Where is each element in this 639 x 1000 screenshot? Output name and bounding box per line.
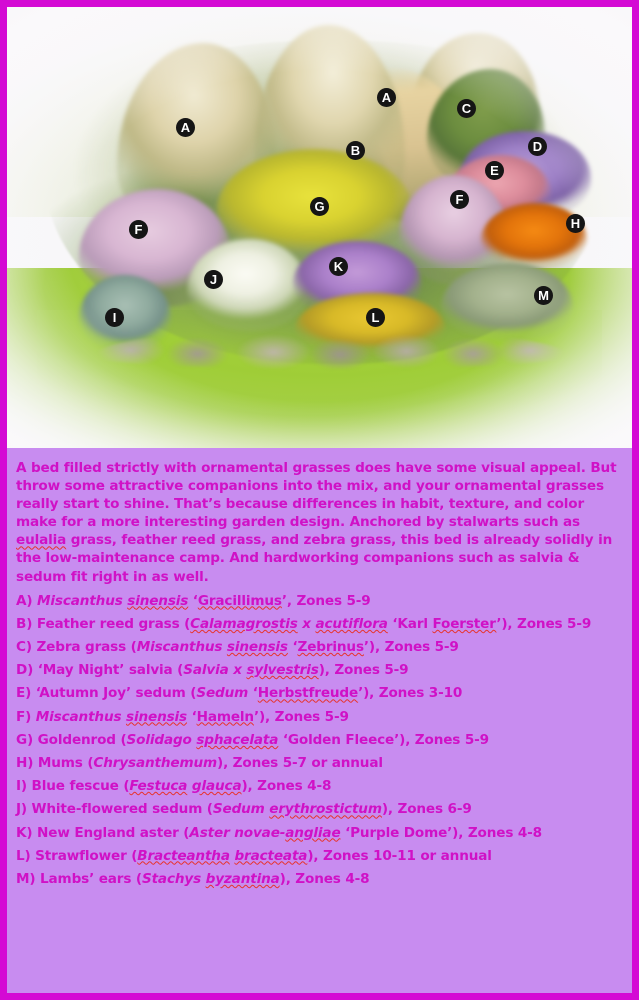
text-run: L) Strawflower ( [16,848,137,864]
text-run: ’), Zones 5-9 [254,709,349,725]
botanical-name-flagged: sinensis [126,709,187,725]
plant-legend-item-d: D) ‘May Night’ salvia (Salvia x sylvestr… [16,661,624,680]
botanical-name: Miscanthus [37,593,127,609]
text-run: ’, Zones 5-9 [282,593,371,609]
botanical-name: x [298,616,316,632]
text-run: J) White-flowered sedum ( [16,801,213,817]
plant-marker-e: E [485,161,504,180]
plant-marker-d: D [528,137,547,156]
plant-legend-item-j: J) White-flowered sedum (Sedum erythrost… [16,800,624,819]
botanical-name: Miscanthus [36,709,126,725]
text-run: ’), Zones 5-9 [364,639,459,655]
text-run: C) Zebra grass ( [16,639,137,655]
plant-clump-lambs-ears [441,263,573,341]
plant-marker-h: H [566,214,585,233]
botanical-name-flagged: Bracteantha [137,848,230,864]
botanical-name: Stachys [142,871,206,887]
plant-marker-c: C [457,99,476,118]
text-run: ), Zones 5-7 or annual [217,755,383,771]
spellcheck-flagged-word: Gracillimus [198,593,282,609]
text-run: H) Mums ( [16,755,93,771]
text-run: A) [16,593,37,609]
garden-photo: AABCDEFFGHIJKLM [7,7,632,451]
plant-legend-item-f: F) Miscanthus sinensis ‘Hameln’), Zones … [16,708,624,727]
botanical-name: Salvia x [183,662,246,678]
plant-marker-a: A [176,118,195,137]
plant-marker-l: L [366,308,385,327]
plant-legend-item-h: H) Mums (Chrysanthemum), Zones 5-7 or an… [16,754,624,773]
spellcheck-flagged-word: Foerster [432,616,496,632]
spellcheck-flagged-word: eulalia [16,532,66,548]
plant-legend-item-g: G) Goldenrod (Solidago sphacelata ‘Golde… [16,731,624,750]
botanical-name-flagged: byzantina [206,871,280,887]
plant-legend-item-k: K) New England aster (Aster novae-anglia… [16,824,624,843]
spellcheck-flagged-word: Herbstfreude [258,685,358,701]
plant-marker-i: I [105,308,124,327]
text-run: ‘ [188,593,198,609]
plant-marker-k: K [329,257,348,276]
text-run: D) ‘May Night’ salvia ( [16,662,183,678]
text-run: F) [16,709,36,725]
text-run: ‘ [248,685,258,701]
plant-marker-f: F [129,220,148,239]
plant-marker-a: A [377,88,396,107]
botanical-name: Sedum [213,801,269,817]
text-run: ’), Zones 5-9 [496,616,591,632]
text-run: K) New England aster ( [16,825,189,841]
text-run: ’), Zones 3-10 [358,685,462,701]
text-run: M) Lambs’ ears ( [16,871,142,887]
plant-legend-item-a: A) Miscanthus sinensis ‘Gracillimus’, Zo… [16,592,624,611]
botanical-name: Sedum [196,685,248,701]
text-run: ‘ [187,709,197,725]
spellcheck-flagged-word: Zebrinus [297,639,363,655]
spellcheck-flagged-word: Hameln [197,709,254,725]
botanical-name-flagged: sinensis [227,639,288,655]
plant-marker-m: M [534,286,553,305]
botanical-name: Chrysanthemum [93,755,217,771]
botanical-name-flagged: sphacelata [196,732,278,748]
plant-legend-item-c: C) Zebra grass (Miscanthus sinensis ‘Zeb… [16,638,624,657]
caption-panel: A bed filled strictly with ornamental gr… [7,451,632,993]
text-run: A bed filled strictly with ornamental gr… [16,460,616,530]
plant-legend-item-m: M) Lambs’ ears (Stachys byzantina), Zone… [16,870,624,889]
plant-legend-item-l: L) Strawflower (Bracteantha bracteata), … [16,847,624,866]
text-run: G) Goldenrod ( [16,732,127,748]
botanical-name: Miscanthus [137,639,227,655]
plant-legend-list: A) Miscanthus sinensis ‘Gracillimus’, Zo… [16,592,624,889]
plant-marker-j: J [204,270,223,289]
plant-legend-item-i: I) Blue fescue (Festuca glauca), Zones 4… [16,777,624,796]
botanical-name-flagged: sylvestris [246,662,318,678]
botanical-name-flagged: angliae [285,825,340,841]
plant-legend-item-e: E) ‘Autumn Joy’ sedum (Sedum ‘Herbstfreu… [16,684,624,703]
botanical-name-flagged: Festuca [129,778,187,794]
plant-marker-g: G [310,197,329,216]
text-run: ‘Karl [388,616,433,632]
plant-marker-b: B [346,141,365,160]
botanical-name-flagged: erythrostictum [269,801,382,817]
text-run: ), Zones 6-9 [382,801,472,817]
botanical-name-flagged: glauca [192,778,242,794]
botanical-name: Aster novae- [189,825,285,841]
text-run: ‘Golden Fleece’), Zones 5-9 [278,732,489,748]
plant-clump-mums [481,203,587,269]
page-frame: AABCDEFFGHIJKLM A bed filled strictly wi… [0,0,639,1000]
text-run: ), Zones 5-9 [319,662,409,678]
text-run: ), Zones 4-8 [241,778,331,794]
botanical-name-flagged: Calamagrostis [190,616,297,632]
botanical-name-flagged: acutiflora [315,616,387,632]
text-run: B) Feather reed grass ( [16,616,190,632]
plant-marker-f: F [450,190,469,209]
botanical-name: Solidago [127,732,197,748]
text-run: E) ‘Autumn Joy’ sedum ( [16,685,196,701]
text-run: grass, feather reed grass, and zebra gra… [16,532,612,584]
text-run: ‘Purple Dome’), Zones 4-8 [341,825,542,841]
plant-legend-item-b: B) Feather reed grass (Calamagrostis x a… [16,615,624,634]
intro-paragraph: A bed filled strictly with ornamental gr… [16,459,624,586]
text-run: ), Zones 4-8 [280,871,370,887]
botanical-name-flagged: bracteata [234,848,307,864]
garden-illustration [7,7,632,448]
text-run: I) Blue fescue ( [16,778,129,794]
text-run: ), Zones 10-11 or annual [307,848,491,864]
botanical-name-flagged: sinensis [127,593,188,609]
